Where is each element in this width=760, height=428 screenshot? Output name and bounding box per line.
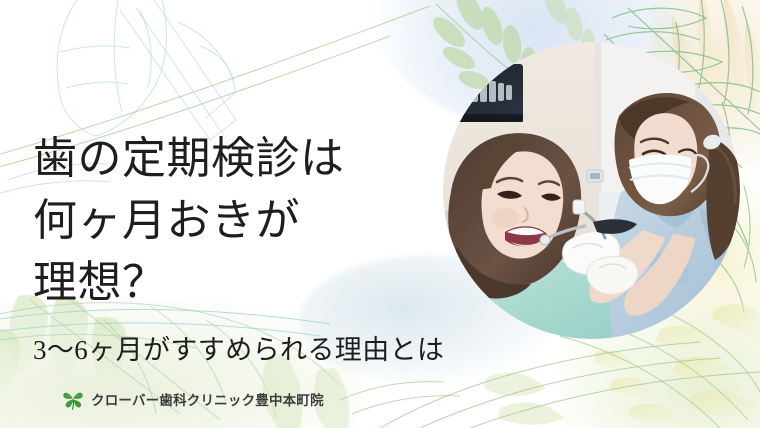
clinic-name: クローバー歯科クリニック豊中本町院 <box>91 389 324 409</box>
clinic-logo: クローバー歯科クリニック豊中本町院 <box>62 388 324 410</box>
four-leaf-clover-icon <box>62 388 84 410</box>
clinic-photo-illustration <box>443 42 740 339</box>
banner-canvas: 歯の定期検診は 何ヶ月おきが 理想？ 3〜6ヶ月がすすめられる理由とは クローバ… <box>0 0 760 428</box>
headline-line-1: 歯の定期検診は <box>33 128 433 190</box>
page-title: 歯の定期検診は 何ヶ月おきが 理想？ <box>33 128 433 314</box>
clinic-photo <box>443 42 740 339</box>
headline-line-3: 理想？ <box>33 252 433 314</box>
subtitle: 3〜6ヶ月がすすめられる理由とは <box>33 336 444 366</box>
leaf-sketch-top-left <box>120 0 236 140</box>
headline-line-2: 何ヶ月おきが <box>33 190 433 252</box>
